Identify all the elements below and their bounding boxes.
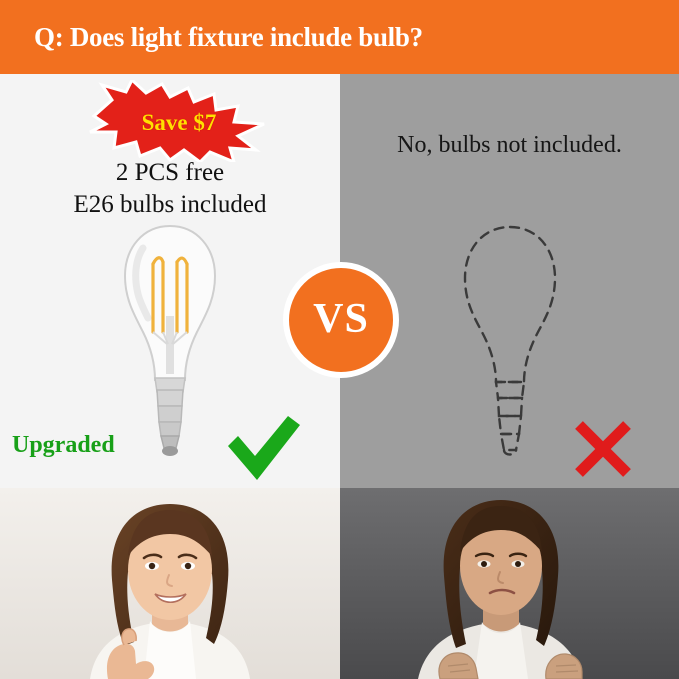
right-caption: No, bulbs not included. xyxy=(340,132,679,159)
left-caption-line2: E26 bulbs included xyxy=(0,189,340,221)
cross-icon xyxy=(572,418,634,480)
left-caption-line1: 2 PCS free xyxy=(0,157,340,189)
bulb-icon-included xyxy=(105,220,235,470)
left-caption: 2 PCS free E26 bulbs included xyxy=(0,157,340,221)
header-banner: Q: Does light fixture include bulb? xyxy=(0,0,679,74)
save-badge: Save $7 xyxy=(88,80,270,162)
photo-positive xyxy=(0,488,340,679)
vs-badge: VS xyxy=(283,262,399,378)
product-comparison-image: Q: Does light fixture include bulb? Save… xyxy=(0,0,679,679)
bulb-icon-not-included xyxy=(450,222,570,470)
check-icon xyxy=(222,412,304,484)
vs-badge-circle: VS xyxy=(283,262,399,378)
page-title: Q: Does light fixture include bulb? xyxy=(0,22,423,53)
vs-badge-label: VS xyxy=(313,295,369,346)
upgraded-label: Upgraded xyxy=(12,432,115,459)
photo-negative xyxy=(340,488,679,679)
save-badge-label: Save $7 xyxy=(88,80,270,162)
